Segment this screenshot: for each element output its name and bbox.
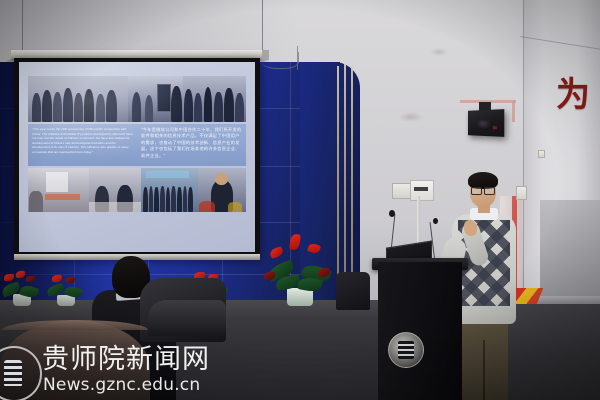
speaker-led-indicator [493,126,497,129]
wall-junction-box [392,183,412,199]
speaker-cone [477,119,493,130]
slide-photo-leader-speaking-at-podium [198,168,246,212]
slide-quote-chinese: "今年是微软公司和中国合作二十年，我们所开发的软件和相关的信息技术产品，不仅满足… [137,124,246,166]
wall-switch-plate [538,150,545,158]
screen-housing-end-cap [5,50,11,60]
slide-bottom-photo-strip [28,168,246,212]
decor-gold-strip [344,64,346,298]
microphone-head [389,210,395,217]
slide-photo-presenter-at-display-screen [128,76,183,122]
projection-screen-surface: "This year marks the 20th anniversary of… [19,62,255,252]
slide-photo-delegation-touring-exhibit [28,76,128,122]
wall-switch-plate [516,186,527,200]
university-crest-emblem [388,332,424,368]
wall-conduit-pipe [512,100,515,122]
ceiling-cable [297,46,298,70]
right-doorway [540,200,600,300]
photo-scene: "This year marks the 20th anniversary of… [0,0,600,400]
lectern-podium [378,262,462,400]
presenter-eyeglasses [471,187,495,193]
wall-smudge [398,112,424,122]
potted-plant [0,262,44,306]
ceiling-cable [22,0,23,52]
armchair-armrest [148,300,226,336]
watermark-site-name: 贵师院新闻网 [42,345,210,375]
slide-photo-officials-greeting-handshake [183,76,246,122]
slide-photo-office-documents-closeup [28,168,89,212]
slide-top-photo-strip [28,76,246,122]
presentation-slide: "This year marks the 20th anniversary of… [19,62,255,252]
ceiling-cable [262,0,263,52]
slide-quote-band: "This year marks the 20th anniversary of… [28,124,246,166]
control-panel-slot [414,187,428,191]
slide-quote-english: "This year marks the 20th anniversary of… [28,124,137,166]
decor-gold-strip [351,66,353,298]
university-seal-logo-icon [0,346,42,400]
slide-photo-signing-ceremony-table [89,168,141,212]
screen-housing-end-cap [262,50,269,60]
wall-mounted-loudspeaker [468,109,504,137]
slide-photo-group-photo-on-stage [141,168,198,212]
watermark-site-url: News.gznc.edu.cn [43,375,200,395]
microphone-head [433,218,438,224]
news-site-watermark: 贵师院新闻网 News.gznc.edu.cn [0,344,230,400]
potted-plant-large [262,228,338,306]
wall-corner-seam [523,0,524,330]
potted-plant [44,264,88,306]
wall-smudge [430,48,448,56]
presenter-leg-seam [483,340,485,400]
wall-calligraphy-character: 为 [556,78,590,112]
side-chair [336,272,370,310]
